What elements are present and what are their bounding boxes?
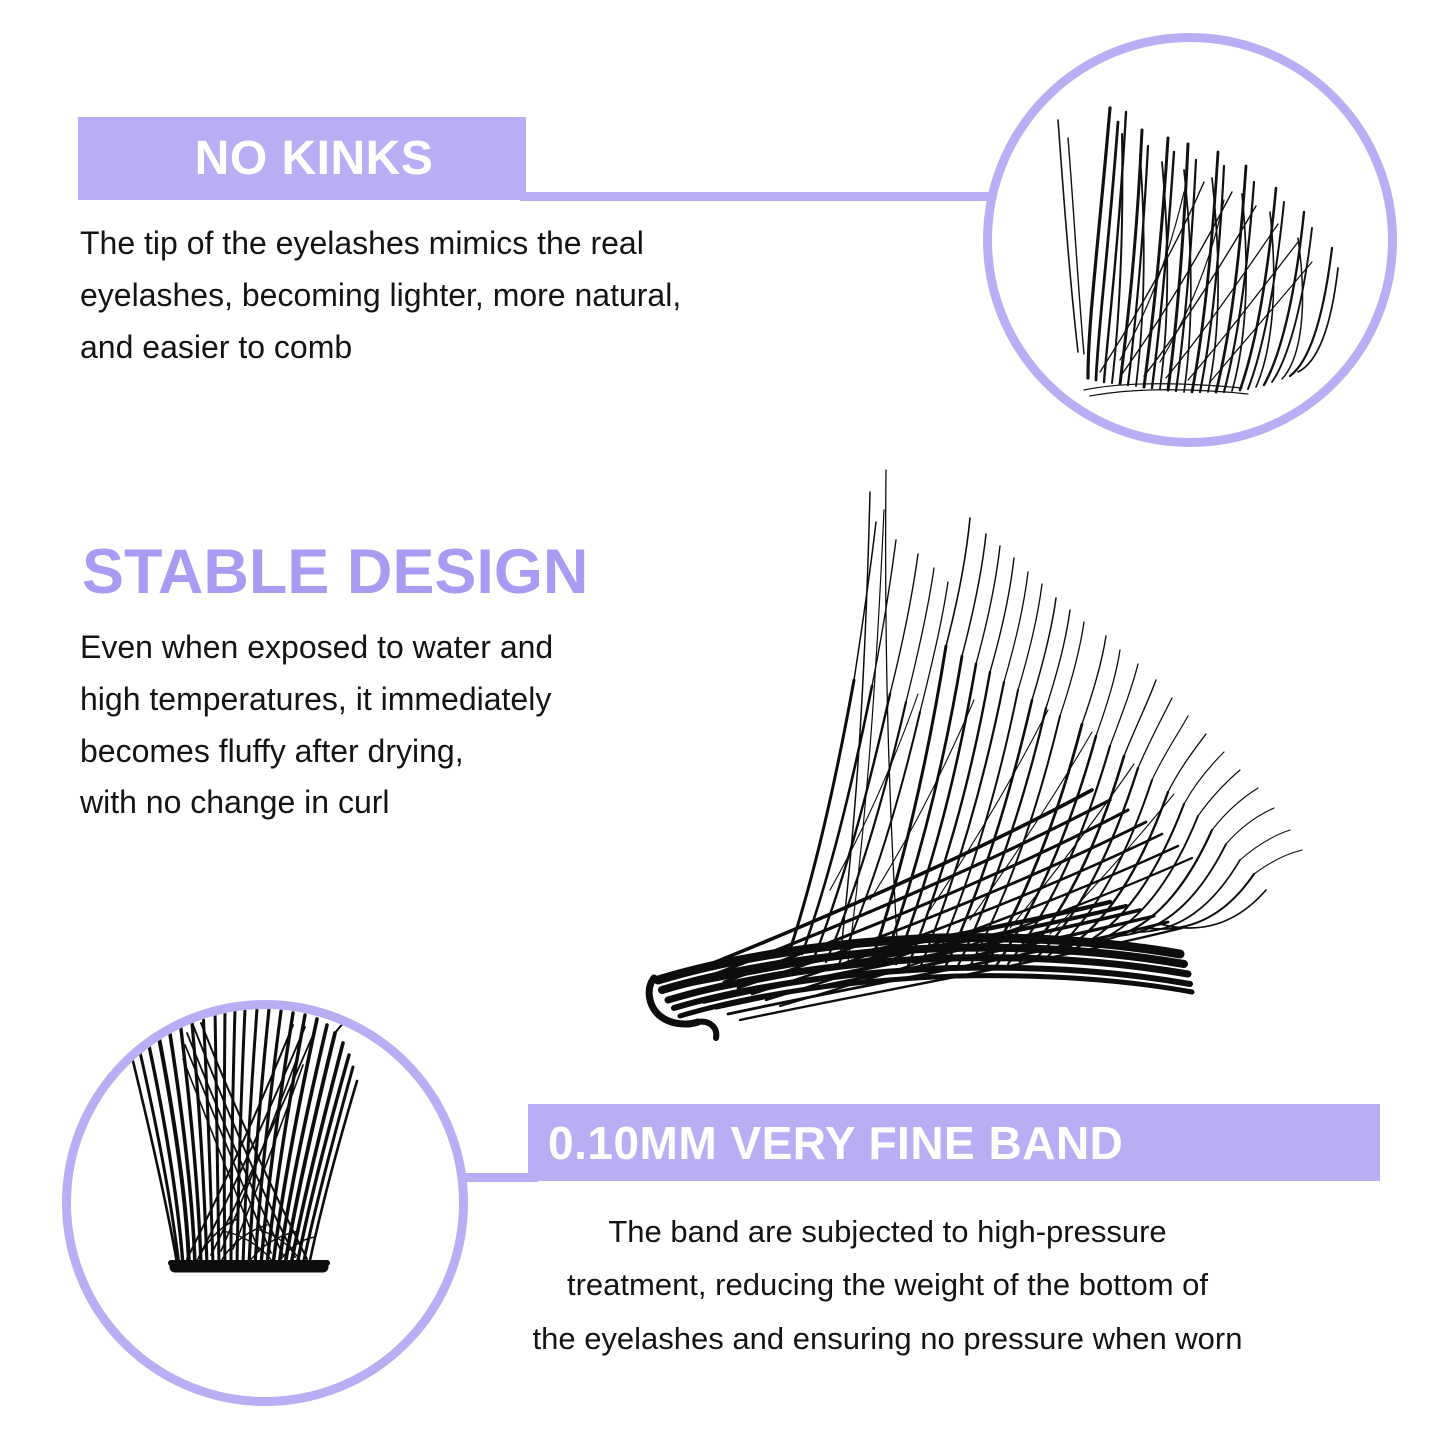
infographic-page: NO KINKS The tip of the eyelashes mimics… (0, 0, 1445, 1445)
body-line: treatment, reducing the weight of the bo… (410, 1258, 1365, 1311)
body-line: The band are subjected to high-pressure (410, 1205, 1365, 1258)
heading-stable-design: STABLE DESIGN (82, 536, 588, 608)
product-image-lash-strip (640, 450, 1360, 1070)
body-text-fine-band: The band are subjected to high-pressure … (410, 1205, 1365, 1365)
badge-fine-band: 0.10MM VERY FINE BAND (528, 1104, 1380, 1181)
body-text-no-kinks: The tip of the eyelashes mimics the real… (80, 218, 880, 373)
false-eyelash-strip-icon (640, 450, 1360, 1070)
body-line: The tip of the eyelashes mimics the real (80, 218, 880, 270)
body-line: the eyelashes and ensuring no pressure w… (410, 1312, 1365, 1365)
body-line: eyelashes, becoming lighter, more natura… (80, 270, 880, 322)
badge-no-kinks: NO KINKS (78, 117, 526, 200)
callout-circle-lash-tips (983, 33, 1397, 447)
lash-band-base-closeup-icon (71, 1009, 459, 1397)
badge-fine-band-label: 0.10MM VERY FINE BAND (528, 1116, 1123, 1170)
callout-circle-lash-band (62, 1000, 468, 1406)
lash-tips-closeup-icon (992, 42, 1388, 438)
badge-no-kinks-label: NO KINKS (171, 131, 434, 186)
body-line: and easier to comb (80, 322, 880, 374)
connector-line-no-kinks (520, 192, 1040, 201)
